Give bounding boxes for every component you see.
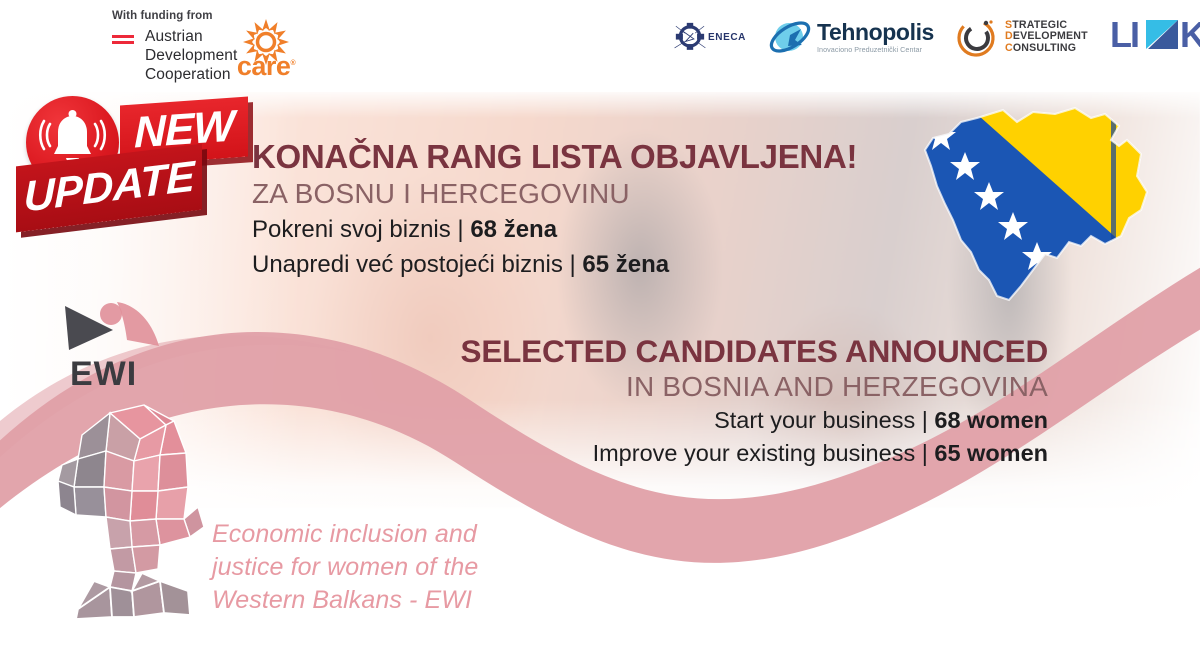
link-logo-icon: LI K xyxy=(1110,16,1200,59)
english-line-1: Start your business | 68 women xyxy=(461,404,1048,437)
bosnian-line-1-count: 68 žena xyxy=(470,216,557,243)
funding-label: With funding from xyxy=(112,10,237,22)
sdc-evelopment: EVELOPMENT xyxy=(1013,30,1088,42)
bosnian-heading: KONAČNA RANG LISTA OBJAVLJENA! xyxy=(252,138,857,176)
adc-line-2: Development xyxy=(145,46,237,65)
promotional-banner: With funding from Austrian Development C… xyxy=(0,0,1200,650)
tehnopolis-subtitle: Inovaciono Preduzetnički Centar xyxy=(817,46,934,53)
austrian-development-cooperation-text: Austrian Development Cooperation xyxy=(145,27,237,84)
tehnopolis-orbit-icon xyxy=(768,15,812,59)
bosnia-herzegovina-flag-map-icon xyxy=(905,100,1175,332)
bosnian-line-1-text: Pokreni svoj biznis | xyxy=(252,216,470,243)
ewi-arrow-swoosh-icon xyxy=(55,300,235,360)
sdc-trategic: TRATEGIC xyxy=(1012,19,1067,31)
english-text-block: SELECTED CANDIDATES ANNOUNCED IN BOSNIA … xyxy=(461,332,1048,470)
partner-logo-link: LI K PODUZETNIČKI CENTAR xyxy=(1110,16,1200,59)
english-subheading: IN BOSNIA AND HERZEGOVINA xyxy=(461,370,1048,404)
svg-text:K: K xyxy=(1180,16,1200,54)
svg-text:LI: LI xyxy=(1110,16,1138,54)
bosnian-line-2: Unapredi već postojeći biznis | 65 žena xyxy=(252,249,857,281)
funding-block: With funding from Austrian Development C… xyxy=(112,10,237,84)
austria-flag-icon xyxy=(112,35,134,44)
tagline-line-1: Economic inclusion and xyxy=(212,518,478,551)
sdc-wordmark: STRATEGIC DEVELOPMENT CONSULTING xyxy=(1005,20,1088,55)
sdc-line-3: CONSULTING xyxy=(1005,43,1088,55)
sdc-c: C xyxy=(1005,42,1013,54)
english-line-2-count: 65 women xyxy=(934,440,1048,466)
bosnian-line-2-text: Unapredi već postojeći biznis | xyxy=(252,251,582,278)
sdc-d: D xyxy=(1005,30,1013,42)
bosnian-text-block: KONAČNA RANG LISTA OBJAVLJENA! ZA BOSNU … xyxy=(252,138,857,281)
partner-logo-tehnopolis: Tehnopolis Inovaciono Preduzetnički Cent… xyxy=(768,15,934,59)
english-line-1-text: Start your business | xyxy=(714,407,934,433)
sdc-circle-icon xyxy=(956,16,998,58)
partner-logo-sdc: STRATEGIC DEVELOPMENT CONSULTING xyxy=(956,16,1088,58)
tagline-line-2: justice for women of the xyxy=(212,551,478,584)
tehnopolis-label: Tehnopolis xyxy=(817,21,934,44)
low-poly-woman-head-icon xyxy=(48,395,238,620)
english-heading: SELECTED CANDIDATES ANNOUNCED xyxy=(461,332,1048,370)
bosnian-subheading: ZA BOSNU I HERCEGOVINU xyxy=(252,177,857,211)
ewi-tagline: Economic inclusion and justice for women… xyxy=(212,518,478,617)
eneca-globe-icon xyxy=(672,14,708,60)
tagline-line-3: Western Balkans - EWI xyxy=(212,584,478,617)
eneca-label: ENECA xyxy=(708,32,746,43)
adc-line-3: Cooperation xyxy=(145,65,237,84)
care-logo: care® xyxy=(232,16,300,74)
care-sunburst-icon xyxy=(240,16,292,68)
ewi-wordmark: EWI xyxy=(70,355,137,394)
english-line-2: Improve your existing business | 65 wome… xyxy=(461,437,1048,470)
adc-line-1: Austrian xyxy=(145,27,237,46)
bosnian-line-2-count: 65 žena xyxy=(582,251,669,278)
sdc-onsulting: ONSULTING xyxy=(1013,42,1076,54)
partner-logos: ENECA Tehnopolis Inovaciono Preduzetničk… xyxy=(672,14,1200,60)
english-line-1-count: 68 women xyxy=(934,407,1048,433)
english-line-2-text: Improve your existing business | xyxy=(593,440,935,466)
header-logo-bar: With funding from Austrian Development C… xyxy=(0,0,1200,92)
partner-logo-eneca: ENECA xyxy=(672,14,746,60)
bosnian-line-1: Pokreni svoj biznis | 68 žena xyxy=(252,214,857,246)
